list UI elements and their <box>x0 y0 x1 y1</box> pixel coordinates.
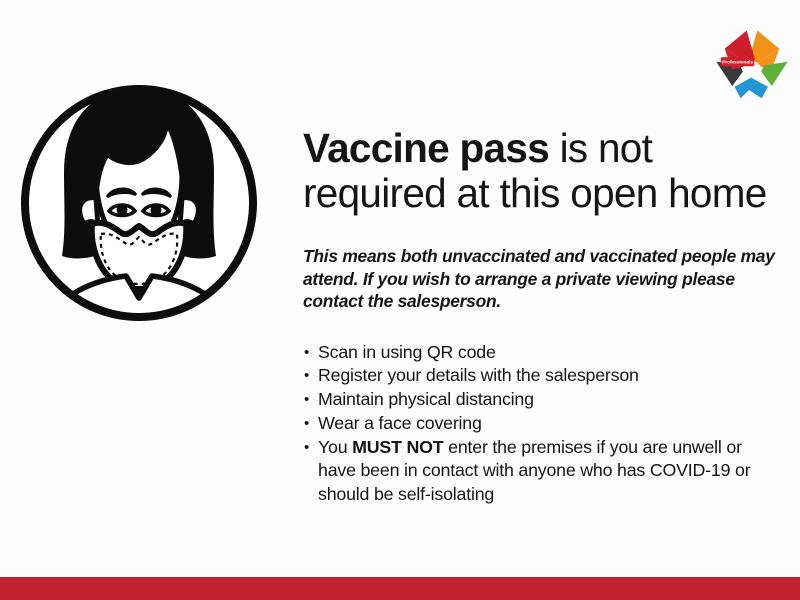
list-item: Wear a face covering <box>303 412 781 436</box>
list-item-text-before: Wear a face covering <box>318 413 482 433</box>
subtitle-text: This means both unvaccinated and vaccina… <box>303 216 781 313</box>
page-title: Vaccine pass is not required at this ope… <box>303 126 781 216</box>
pupil-right <box>151 205 162 216</box>
logo-arm-green <box>761 62 788 86</box>
logo-wordmark-text: Professionals <box>722 60 753 65</box>
logo-wordmark-ribbon: Professionals <box>721 57 754 66</box>
list-item: Scan in using QR code <box>303 341 781 365</box>
page-title-emphasis: Vaccine pass <box>303 125 549 171</box>
list-item-text-bold: MUST NOT <box>352 437 443 457</box>
instructions-list: Scan in using QR code Register your deta… <box>303 313 781 508</box>
professionals-star-logo: Professionals <box>714 26 790 102</box>
list-item: Maintain physical distancing <box>303 388 781 412</box>
bottom-accent-bar <box>0 577 800 600</box>
pupil-left <box>117 205 128 216</box>
person-wearing-face-mask-illustration <box>16 80 262 326</box>
illustration-artwork <box>16 80 262 326</box>
list-item-text-before: Register your details with the salespers… <box>318 365 639 385</box>
logo-arm-blue <box>735 78 768 99</box>
list-item-text-before: Scan in using QR code <box>318 342 496 362</box>
poster-canvas: Professionals <box>0 0 800 600</box>
list-item-text-before: You <box>318 437 352 457</box>
list-item: You MUST NOT enter the premises if you a… <box>303 436 781 507</box>
content-column: Vaccine pass is not required at this ope… <box>303 126 781 507</box>
list-item: Register your details with the salespers… <box>303 364 781 388</box>
list-item-text-before: Maintain physical distancing <box>318 389 534 409</box>
